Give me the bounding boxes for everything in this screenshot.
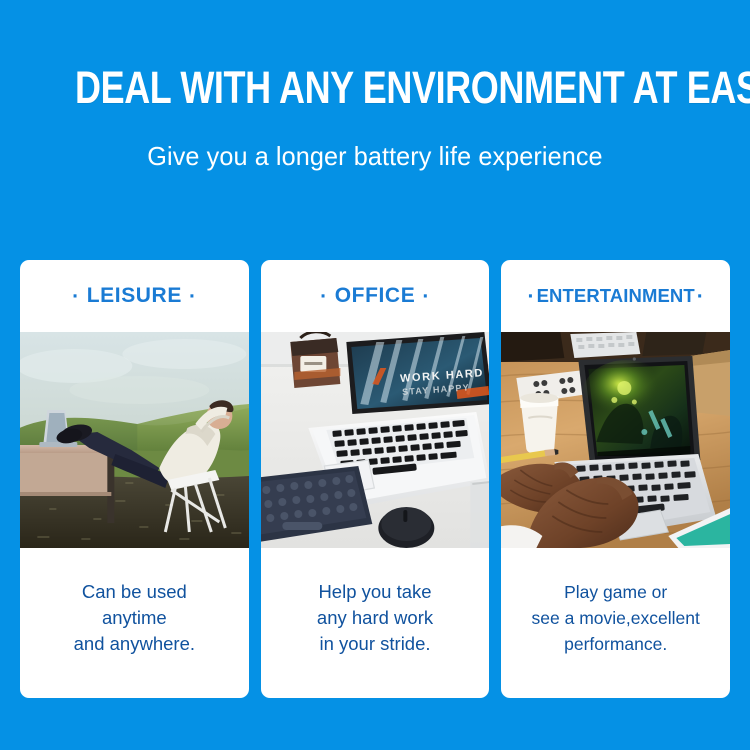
card-title-office: · OFFICE · <box>261 260 490 332</box>
bullet-dot-icon: · <box>182 286 204 307</box>
bullet-dot-icon: · <box>65 286 87 307</box>
feature-cards-row: · LEISURE · <box>20 260 730 698</box>
headline-block: DEAL WITH ANY ENVIRONMENT AT EASE Give y… <box>0 62 750 172</box>
bullet-dot-icon: · <box>695 286 706 307</box>
bullet-dot-icon: · <box>313 286 335 307</box>
card-title-leisure: · LEISURE · <box>20 260 249 332</box>
promo-banner: DEAL WITH ANY ENVIRONMENT AT EASE Give y… <box>0 0 750 750</box>
card-photo-leisure <box>20 332 249 548</box>
office-photo-illustration: WORK HARD STAY HAPPY <box>261 332 490 548</box>
card-title-label: OFFICE <box>335 284 416 308</box>
bullet-dot-icon: · <box>415 286 437 307</box>
feature-card-office[interactable]: · OFFICE · <box>261 260 490 698</box>
entertainment-photo-illustration <box>501 332 730 548</box>
page-title: DEAL WITH ANY ENVIRONMENT AT EASE <box>75 62 675 114</box>
card-photo-office: WORK HARD STAY HAPPY <box>261 332 490 548</box>
card-title-label: ENTERTAINMENT <box>537 285 695 307</box>
page-subtitle: Give you a longer battery life experienc… <box>11 114 739 172</box>
card-photo-entertainment <box>501 332 730 548</box>
card-caption-leisure: Can be used anytime and anywhere. <box>20 548 249 698</box>
feature-card-leisure[interactable]: · LEISURE · <box>20 260 249 698</box>
bullet-dot-icon: · <box>525 286 536 307</box>
card-caption-entertainment: Play game or see a movie,excellent perfo… <box>501 548 730 698</box>
card-title-label: LEISURE <box>87 284 182 308</box>
feature-card-entertainment[interactable]: · ENTERTAINMENT · <box>501 260 730 698</box>
card-title-entertainment: · ENTERTAINMENT · <box>501 260 730 332</box>
leisure-photo-illustration <box>20 332 249 548</box>
card-caption-office: Help you take any hard work in your stri… <box>261 548 490 698</box>
